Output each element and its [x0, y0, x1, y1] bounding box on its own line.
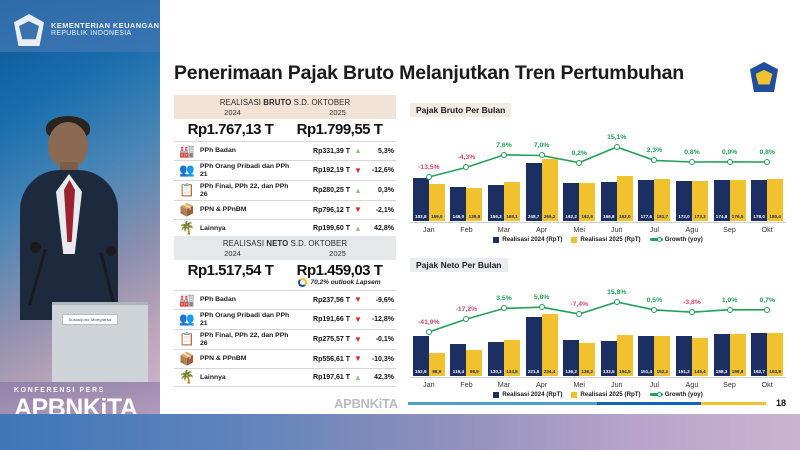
growth-label: 7,6% — [496, 142, 512, 149]
neto-totals: Rp1.517,54 T Rp1.459,03 T 70,2% outlook … — [174, 260, 396, 289]
row-label: PPh Badan — [200, 296, 298, 304]
x-tick-label: Okt — [748, 378, 786, 389]
document-icon: 📋 — [174, 333, 200, 346]
chart-neto-title: Pajak Neto Per Bulan — [410, 258, 508, 272]
row-label: PPN & PPnBM — [200, 355, 298, 363]
x-tick-label: Jul — [636, 378, 674, 389]
x-tick-label: Mar — [485, 223, 523, 234]
chart-neto-plot: 152,988,9119,498,9130,3134,8221,6234,413… — [410, 276, 786, 376]
row-value: Rp197,61 T — [298, 374, 350, 381]
legend-swatch-2024 — [493, 237, 499, 243]
growth-label: 15,8% — [607, 289, 626, 296]
row-value: Rp237,56 T — [298, 297, 350, 304]
microphone-head-right-icon — [106, 246, 116, 256]
row-percent: 42,3% — [366, 374, 396, 381]
x-tick-label: Jun — [598, 223, 636, 234]
triangle-down-icon: ▼ — [350, 206, 366, 214]
triangle-down-icon: ▼ — [350, 336, 366, 344]
neto-panel: REALISASI NETO S.D. OKTOBER 2024 2025 Rp… — [174, 236, 396, 387]
growth-point — [651, 307, 657, 313]
chart-bruto-legend: Realisasi 2024 (RpT)Realisasi 2025 (RpT)… — [410, 236, 786, 243]
boxes-icon: 📦 — [174, 204, 200, 217]
growth-label: 15,1% — [607, 134, 626, 141]
donut-progress-icon — [298, 278, 307, 287]
legend-dot-growth — [657, 237, 662, 242]
footer-bar-segment-2 — [597, 402, 701, 405]
page-title: Penerimaan Pajak Bruto Melanjutkan Tren … — [174, 62, 764, 85]
speaker-photo-band: Susiwijono Moegiarso KEMENTERIAN KEUANGA… — [0, 0, 160, 450]
bruto-year-2025: 2025 — [285, 108, 390, 117]
growth-point — [614, 144, 620, 150]
growth-label: -41,9% — [418, 319, 440, 326]
row-percent: 42,8% — [366, 225, 396, 232]
ministry-seal-icon — [14, 14, 44, 46]
x-tick-label: Agu — [673, 378, 711, 389]
legend-label-2024: Realisasi 2024 (RpT) — [502, 236, 562, 243]
row-percent: 5,3% — [366, 148, 396, 155]
x-tick-label: Jan — [410, 223, 448, 234]
triangle-down-icon: ▼ — [350, 296, 366, 304]
row-label: Lainnya — [200, 225, 298, 233]
neto-heading-pre: REALISASI — [223, 239, 266, 248]
legend-item-2025: Realisasi 2025 (RpT) — [571, 236, 640, 243]
x-tick-label: Mei — [560, 378, 598, 389]
x-tick-label: Jun — [598, 378, 636, 389]
triangle-down-icon: ▼ — [350, 167, 366, 175]
legend-item-growth: Growth (yoy) — [650, 236, 703, 243]
triangle-up-icon: ▲ — [350, 225, 366, 233]
neto-panel-heading: REALISASI NETO S.D. OKTOBER — [174, 236, 396, 249]
neto-heading-bold: NETO — [266, 239, 288, 248]
slide-footer: APBNKiTA 18 — [320, 392, 800, 414]
row-percent: -10,3% — [366, 356, 396, 363]
row-label: PPh Orang Pribadi dan PPh 21 — [200, 163, 298, 179]
growth-line-series — [410, 276, 786, 376]
table-row: 📋PPh Final, PPh 22, dan PPh 26Rp275,57 T… — [174, 329, 396, 349]
people-icon: 👥 — [174, 313, 200, 326]
growth-point — [501, 152, 507, 158]
chart-bruto-plot: 183,8159,0146,0139,8156,3168,1248,7266,2… — [410, 121, 786, 221]
footer-bar-segment-1 — [408, 402, 597, 405]
slide-canvas: Penerimaan Pajak Bruto Melanjutkan Tren … — [160, 0, 800, 450]
neto-total-2025: Rp1.459,03 T — [285, 262, 394, 279]
growth-label: -3,8% — [683, 299, 701, 306]
x-tick-label: Feb — [448, 378, 486, 389]
table-row: 📋PPh Final, PPh 22, dan PPh 26Rp280,25 T… — [174, 180, 396, 200]
row-label: PPh Badan — [200, 147, 298, 155]
ministry-logo: KEMENTERIAN KEUANGAN REPUBLIK INDONESIA — [14, 14, 159, 46]
triangle-up-icon: ▲ — [350, 374, 366, 382]
row-percent: -12,8% — [366, 316, 396, 323]
bruto-heading-post: S.D. OKTOBER — [291, 98, 350, 107]
row-label: Lainnya — [200, 374, 298, 382]
table-row: 🏭PPh BadanRp331,39 T▲5,3% — [174, 141, 396, 160]
ministry-line-1: KEMENTERIAN KEUANGAN — [51, 21, 159, 30]
x-tick-label: Sep — [711, 378, 749, 389]
growth-label: 3,5% — [496, 295, 512, 302]
growth-point — [426, 174, 432, 180]
podium-nameplate-text: Susiwijono Moegiarso — [63, 315, 117, 324]
growth-label: 0,9% — [722, 149, 738, 156]
bruto-total-2024: Rp1.767,13 T — [176, 121, 285, 138]
bruto-panel: REALISASI BRUTO S.D. OKTOBER 2024 2025 R… — [174, 95, 396, 238]
growth-label: 0,2% — [571, 150, 587, 157]
growth-point — [463, 164, 469, 170]
table-row: 👥PPh Orang Pribadi dan PPh 21Rp191,66 T▼… — [174, 309, 396, 329]
growth-point — [614, 299, 620, 305]
row-percent: -9,6% — [366, 297, 396, 304]
neto-year-row: 2024 2025 — [174, 249, 396, 260]
growth-label: 0,5% — [647, 297, 663, 304]
growth-label: 2,3% — [647, 147, 663, 154]
row-value: Rp280,25 T — [298, 187, 350, 194]
row-label: PPh Final, PPh 22, dan PPh 26 — [200, 332, 298, 348]
row-percent: 0,3% — [366, 187, 396, 194]
x-tick-label: Mei — [560, 223, 598, 234]
factory-icon: 🏭 — [174, 145, 200, 158]
growth-line-series — [410, 121, 786, 221]
table-row: 👥PPh Orang Pribadi dan PPh 21Rp192,19 T▼… — [174, 160, 396, 180]
growth-point — [651, 157, 657, 163]
row-label: PPh Final, PPh 22, dan PPh 26 — [200, 183, 298, 199]
footer-progress-bar — [408, 402, 766, 405]
slide-root: Susiwijono Moegiarso KEMENTERIAN KEUANGA… — [0, 0, 800, 450]
bottom-gradient-strip — [0, 414, 800, 450]
people-icon: 👥 — [174, 164, 200, 177]
chart-bruto-title: Pajak Bruto Per Bulan — [410, 103, 511, 117]
bruto-totals: Rp1.767,13 T Rp1.799,55 T — [174, 119, 396, 140]
row-percent: -2,1% — [366, 207, 396, 214]
growth-point — [501, 305, 507, 311]
legend-item-2024: Realisasi 2024 (RpT) — [493, 236, 562, 243]
growth-label: 0,8% — [759, 149, 775, 156]
growth-point — [576, 311, 582, 317]
growth-point — [689, 309, 695, 315]
ministry-line-2: REPUBLIK INDONESIA — [51, 30, 159, 39]
document-icon: 📋 — [174, 184, 200, 197]
neto-total-2024: Rp1.517,54 T — [176, 262, 285, 279]
growth-point — [764, 307, 770, 313]
x-tick-label: Agu — [673, 223, 711, 234]
growth-label: 0,7% — [759, 297, 775, 304]
row-percent: -0,1% — [366, 336, 396, 343]
growth-point — [463, 316, 469, 322]
row-value: Rp556,61 T — [298, 356, 350, 363]
row-value: Rp192,19 T — [298, 167, 350, 174]
neto-heading-post: S.D. OKTOBER — [288, 239, 347, 248]
x-tick-label: Mar — [485, 378, 523, 389]
ministry-seal-inner — [19, 20, 39, 40]
growth-point — [727, 159, 733, 165]
x-tick-label: Jan — [410, 378, 448, 389]
x-tick-label: Jul — [636, 223, 674, 234]
x-tick-label: Okt — [748, 223, 786, 234]
growth-label: 7,0% — [534, 142, 550, 149]
legend-label-growth: Growth (yoy) — [665, 236, 703, 243]
outlook-badge-text: 70,2% outlook Lapsem — [310, 279, 380, 286]
x-tick-label: Feb — [448, 223, 486, 234]
triangle-down-icon: ▼ — [350, 355, 366, 363]
bruto-panel-heading: REALISASI BRUTO S.D. OKTOBER — [174, 95, 396, 108]
legend-swatch-2025 — [571, 237, 577, 243]
row-percent: -12,6% — [366, 167, 396, 174]
table-row: 🌴LainnyaRp197,61 T▲42,3% — [174, 368, 396, 387]
djp-shield-inner — [756, 69, 773, 86]
row-value: Rp331,39 T — [298, 148, 350, 155]
growth-label: -4,3% — [458, 154, 476, 161]
growth-point — [426, 329, 432, 335]
podium-nameplate: Susiwijono Moegiarso — [62, 314, 118, 325]
outlook-badge: 70,2% outlook Lapsem — [285, 278, 394, 287]
row-value: Rp191,66 T — [298, 316, 350, 323]
neto-rows: 🏭PPh BadanRp237,56 T▼-9,6%👥PPh Orang Pri… — [174, 290, 396, 387]
growth-label: -17,2% — [456, 306, 478, 313]
triangle-up-icon: ▲ — [350, 187, 366, 195]
x-tick-label: Apr — [523, 378, 561, 389]
bruto-year-2024: 2024 — [180, 108, 285, 117]
table-row: 🏭PPh BadanRp237,56 T▼-9,6% — [174, 290, 396, 309]
bruto-rows: 🏭PPh BadanRp331,39 T▲5,3%👥PPh Orang Prib… — [174, 141, 396, 238]
growth-point — [727, 307, 733, 313]
growth-label: 1,0% — [722, 297, 738, 304]
brand-kicker: KONFERENSI PERS — [14, 387, 137, 394]
neto-year-2024: 2024 — [180, 249, 285, 258]
growth-point — [576, 160, 582, 166]
growth-point — [764, 159, 770, 165]
chart-pajak-neto: Pajak Neto Per Bulan 152,988,9119,498,91… — [410, 255, 786, 395]
chart-pajak-bruto: Pajak Bruto Per Bulan 183,8159,0146,0139… — [410, 100, 786, 235]
legend-label-2025: Realisasi 2025 (RpT) — [580, 236, 640, 243]
speaker-photo: Susiwijono Moegiarso — [0, 52, 160, 382]
triangle-down-icon: ▼ — [350, 316, 366, 324]
chart-bruto-xaxis: JanFebMarAprMeiJunJulAguSepOkt — [410, 222, 786, 234]
growth-label: 0,8% — [684, 149, 700, 156]
bruto-heading-pre: REALISASI — [220, 98, 263, 107]
row-value: Rp275,57 T — [298, 336, 350, 343]
page-number: 18 — [776, 398, 786, 408]
growth-point — [539, 152, 545, 158]
chart-neto-xaxis: JanFebMarAprMeiJunJulAguSepOkt — [410, 377, 786, 389]
triangle-up-icon: ▲ — [350, 147, 366, 155]
bruto-heading-bold: BRUTO — [263, 98, 291, 107]
ministry-text: KEMENTERIAN KEUANGAN REPUBLIK INDONESIA — [51, 21, 159, 39]
footer-bar-segment-3 — [701, 402, 766, 405]
growth-point — [539, 304, 545, 310]
palm-tree-icon: 🌴 — [174, 371, 200, 384]
row-label: PPN & PPnBM — [200, 206, 298, 214]
row-value: Rp199,60 T — [298, 225, 350, 232]
footer-brand: APBNKiTA — [334, 396, 398, 411]
factory-icon: 🏭 — [174, 294, 200, 307]
x-tick-label: Sep — [711, 223, 749, 234]
table-row: 📦PPN & PPnBMRp796,12 T▼-2,1% — [174, 200, 396, 219]
table-row: 📦PPN & PPnBMRp556,61 T▼-10,3% — [174, 349, 396, 368]
growth-label: -7,4% — [570, 301, 588, 308]
row-value: Rp796,12 T — [298, 207, 350, 214]
row-label: PPh Orang Pribadi dan PPh 21 — [200, 312, 298, 328]
bruto-total-2025: Rp1.799,55 T — [285, 121, 394, 138]
growth-point — [689, 159, 695, 165]
boxes-icon: 📦 — [174, 353, 200, 366]
x-tick-label: Apr — [523, 223, 561, 234]
growth-label: 5,8% — [534, 294, 550, 301]
palm-tree-icon: 🌴 — [174, 222, 200, 235]
neto-year-2025: 2025 — [285, 249, 390, 258]
growth-label: -13,5% — [418, 164, 440, 171]
bruto-year-row: 2024 2025 — [174, 108, 396, 119]
microphone-head-left-icon — [30, 242, 41, 253]
